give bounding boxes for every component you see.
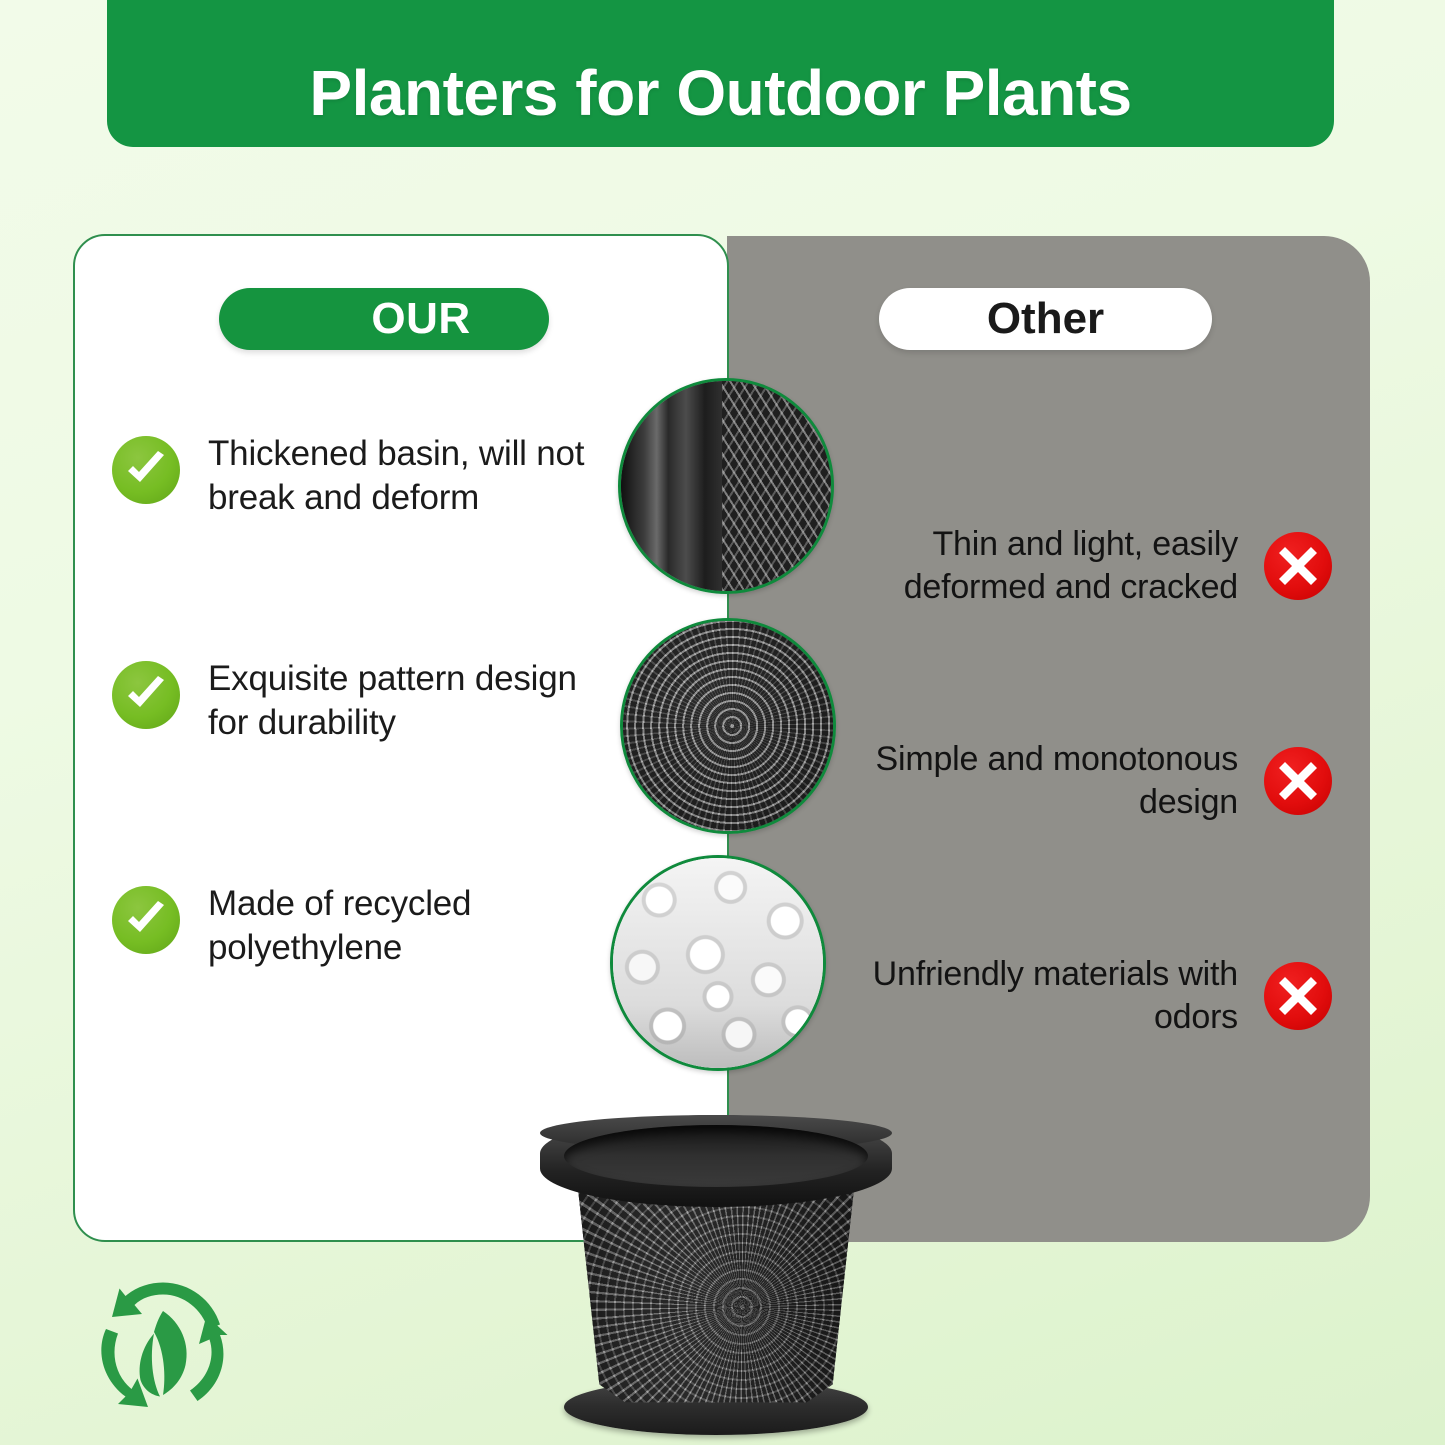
list-item-label: Made of recycled polyethylene — [208, 880, 612, 970]
check-circle-icon — [112, 655, 208, 729]
list-item: Unfriendly materials with odors — [860, 888, 1340, 1103]
our-badge-label: OUR — [371, 294, 470, 344]
list-item: Exquisite pattern design for durability — [112, 655, 612, 880]
other-badge: Other — [879, 288, 1212, 350]
list-item: Thin and light, easily deformed and crac… — [860, 458, 1340, 673]
check-circle-icon — [112, 430, 208, 504]
title-banner: Planters for Outdoor Plants — [107, 0, 1334, 147]
other-feature-list: Thin and light, easily deformed and crac… — [860, 458, 1340, 1103]
list-item: Simple and monotonous design — [860, 673, 1340, 888]
thickened-rim-closeup-image — [618, 378, 834, 594]
list-item-label: Exquisite pattern design for durability — [208, 655, 612, 745]
polyethylene-pellets-closeup-image — [610, 855, 826, 1071]
planter-rim-inner — [564, 1125, 868, 1187]
recycle-leaf-icon — [88, 1272, 238, 1422]
list-item-label: Thickened basin, will not break and defo… — [208, 430, 612, 520]
product-planter-image — [516, 1095, 916, 1435]
our-feature-list: Thickened basin, will not break and defo… — [112, 430, 612, 1105]
our-badge: OUR — [219, 288, 549, 350]
list-item-label: Thin and light, easily deformed and crac… — [860, 523, 1264, 608]
pattern-texture-closeup-image — [620, 618, 836, 834]
x-circle-icon — [1264, 747, 1340, 815]
list-item: Thickened basin, will not break and defo… — [112, 430, 612, 655]
list-item: Made of recycled polyethylene — [112, 880, 612, 1105]
list-item-label: Unfriendly materials with odors — [860, 953, 1264, 1038]
x-circle-icon — [1264, 962, 1340, 1030]
x-circle-icon — [1264, 532, 1340, 600]
other-badge-label: Other — [987, 294, 1104, 344]
page-title: Planters for Outdoor Plants — [309, 61, 1131, 125]
list-item-label: Simple and monotonous design — [860, 738, 1264, 823]
check-circle-icon — [112, 880, 208, 954]
